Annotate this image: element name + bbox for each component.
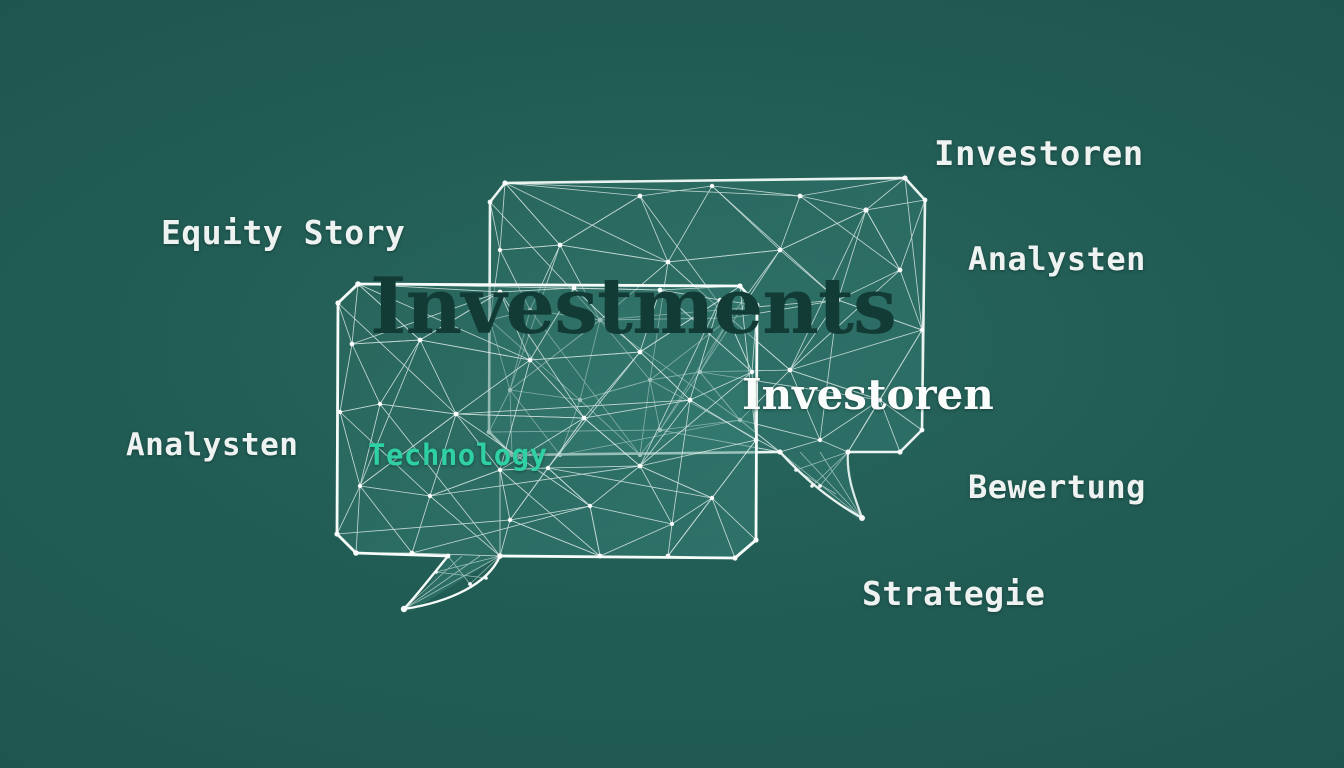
keyword-investoren-top: Investoren <box>934 134 1144 174</box>
keyword-equity-story: Equity Story <box>161 213 405 252</box>
network-mesh-graphic <box>0 0 1344 768</box>
keyword-technology: Technology <box>368 438 548 472</box>
keyword-analysten-right: Analysten <box>968 240 1146 278</box>
banner-canvas: Investments Investoren Analysten Equity … <box>0 0 1344 768</box>
keyword-investoren-featured: Investoren <box>742 370 994 419</box>
page-title: Investments <box>370 268 896 346</box>
keyword-bewertung: Bewertung <box>968 468 1146 506</box>
keyword-analysten-left: Analysten <box>126 427 298 463</box>
keyword-strategie: Strategie <box>862 574 1045 613</box>
